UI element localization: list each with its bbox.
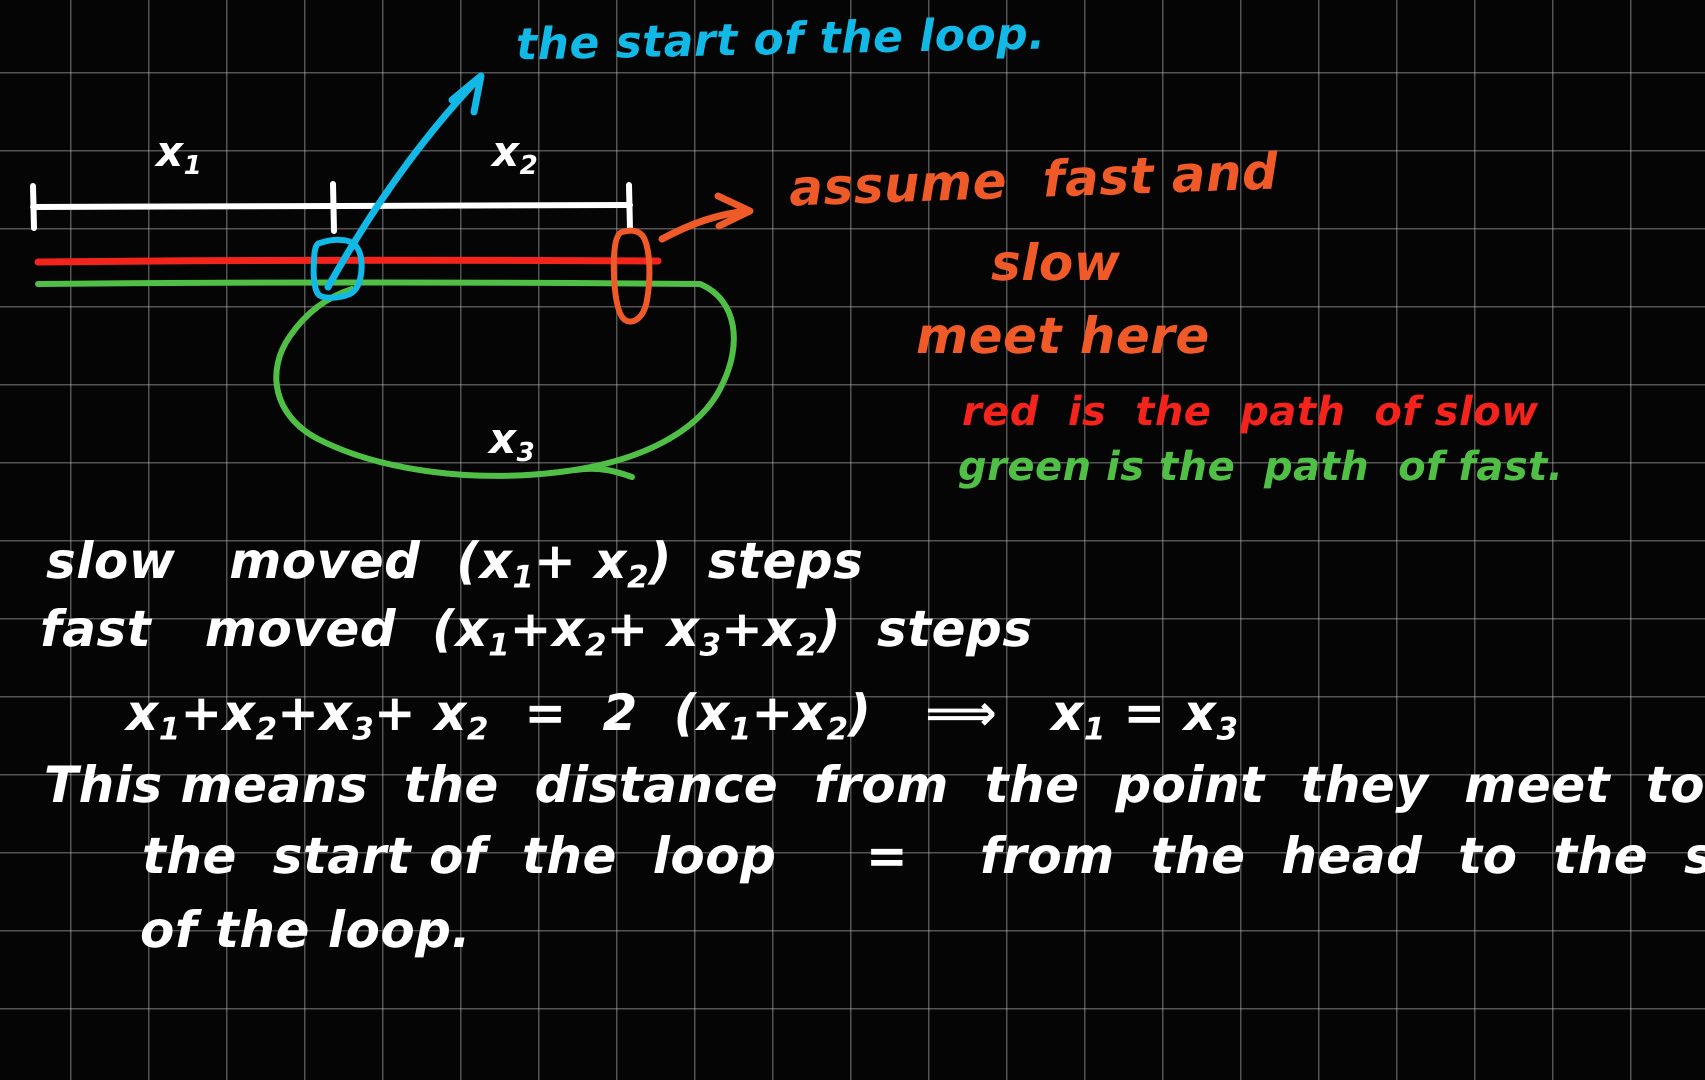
meet-annotation-line3: meet here bbox=[916, 311, 1210, 361]
fast-path-line bbox=[38, 283, 700, 285]
eq-rhs-x2: +x bbox=[751, 684, 826, 742]
fast-expr-open: (x bbox=[432, 600, 488, 658]
conclusion-line-2: the start of the loop = from the head to… bbox=[142, 831, 1705, 881]
eq-concl-x1: x bbox=[1051, 684, 1084, 742]
x2-subscript: 2 bbox=[520, 151, 538, 181]
fast-expr-p1: +x bbox=[510, 600, 585, 658]
fast-expr-close: ) bbox=[818, 600, 841, 658]
measure-bar-group bbox=[33, 184, 630, 231]
handwritten-notes-page: the start of the loop. x1 x2 x3 assume f… bbox=[0, 0, 1705, 1080]
fast-expr-sub3: 3 bbox=[699, 627, 721, 663]
slow-path-line bbox=[38, 260, 658, 262]
loop-start-arrow-shaft bbox=[328, 78, 479, 287]
fast-word: fast bbox=[40, 600, 151, 658]
eq-rhs-x1: (x bbox=[674, 684, 730, 742]
eq-x3-sub: 3 bbox=[352, 711, 374, 747]
meet-arrow-group bbox=[662, 196, 750, 239]
segment-label-x2: x2 bbox=[492, 131, 538, 179]
eq-rhs-x1-sub: 1 bbox=[730, 711, 752, 747]
meet-point-marker-group bbox=[614, 231, 650, 322]
tick-head bbox=[33, 186, 34, 228]
loop-start-annotation: the start of the loop. bbox=[516, 12, 1046, 67]
eq-implies-arrow: ⟹ bbox=[925, 684, 997, 742]
eq-rhs-x2-sub: 2 bbox=[826, 711, 848, 747]
fast-expr-sub1: 1 bbox=[488, 627, 510, 663]
tick-loop-start bbox=[333, 184, 334, 231]
eq-x1: x bbox=[126, 684, 159, 742]
eq-equals-sign: = bbox=[524, 684, 566, 742]
meet-annotation-line2: slow bbox=[991, 238, 1120, 288]
slow-expr-sub2: 2 bbox=[627, 559, 649, 595]
derivation-line-fast: fast moved (x1+x2+ x3+x2) steps bbox=[40, 604, 1033, 661]
eq-concl-x3: x bbox=[1184, 684, 1217, 742]
x1-base: x bbox=[156, 127, 184, 176]
eq-x2b: + x bbox=[374, 684, 467, 742]
eq-concl-x1-sub: 1 bbox=[1084, 711, 1106, 747]
conclusion-line-3: of the loop. bbox=[140, 905, 471, 955]
eq-x2b-sub: 2 bbox=[467, 711, 489, 747]
eq-rhs-close: ) bbox=[848, 684, 871, 742]
eq-coefficient: 2 bbox=[603, 684, 638, 742]
slow-expr-mid: + x bbox=[534, 532, 627, 590]
eq-x2: +x bbox=[180, 684, 255, 742]
conclusion-line-1: This means the distance from the point t… bbox=[44, 760, 1705, 810]
fast-path-group bbox=[38, 283, 734, 478]
segment-label-x1: x1 bbox=[156, 131, 202, 179]
steps-word-2: steps bbox=[877, 600, 1033, 658]
steps-word-1: steps bbox=[708, 532, 864, 590]
derivation-line-slow: slow moved (x1+ x2) steps bbox=[46, 536, 863, 593]
slow-expr-close: ) bbox=[649, 532, 672, 590]
moved-word-1: moved bbox=[229, 532, 420, 590]
x2-base: x bbox=[492, 127, 520, 176]
fast-expr-p3: +x bbox=[721, 600, 796, 658]
eq-x3: +x bbox=[277, 684, 352, 742]
legend-green-fast: green is the path of fast. bbox=[958, 447, 1563, 487]
x3-subscript: 3 bbox=[517, 438, 535, 468]
derivation-equation: x1+x2+x3+ x2 = 2 (x1+x2) ⟹ x1 = x3 bbox=[126, 688, 1238, 745]
eq-concl-x3-sub: 3 bbox=[1216, 711, 1238, 747]
loop-start-arrow-group bbox=[328, 76, 481, 287]
fast-expr-sub2: 2 bbox=[585, 627, 607, 663]
eq-x2-sub: 2 bbox=[256, 711, 278, 747]
legend-red-slow: red is the path of slow bbox=[962, 392, 1539, 432]
eq-concl-equals: = bbox=[1123, 684, 1165, 742]
fast-expr-sub4: 2 bbox=[796, 627, 818, 663]
tick-meet-point bbox=[629, 185, 630, 230]
cycle-loop-tail bbox=[575, 469, 632, 477]
slow-expr-open: (x bbox=[456, 532, 512, 590]
moved-word-2: moved bbox=[205, 600, 396, 658]
segment-label-x3: x3 bbox=[489, 418, 535, 466]
fast-expr-p2: + x bbox=[606, 600, 699, 658]
eq-x1-sub: 1 bbox=[159, 711, 181, 747]
meet-point-box bbox=[614, 231, 650, 322]
slow-expr-sub1: 1 bbox=[512, 559, 534, 595]
slow-word: slow bbox=[46, 532, 175, 590]
x3-base: x bbox=[489, 414, 517, 463]
slow-path-group bbox=[38, 260, 658, 262]
x1-subscript: 1 bbox=[184, 151, 202, 181]
